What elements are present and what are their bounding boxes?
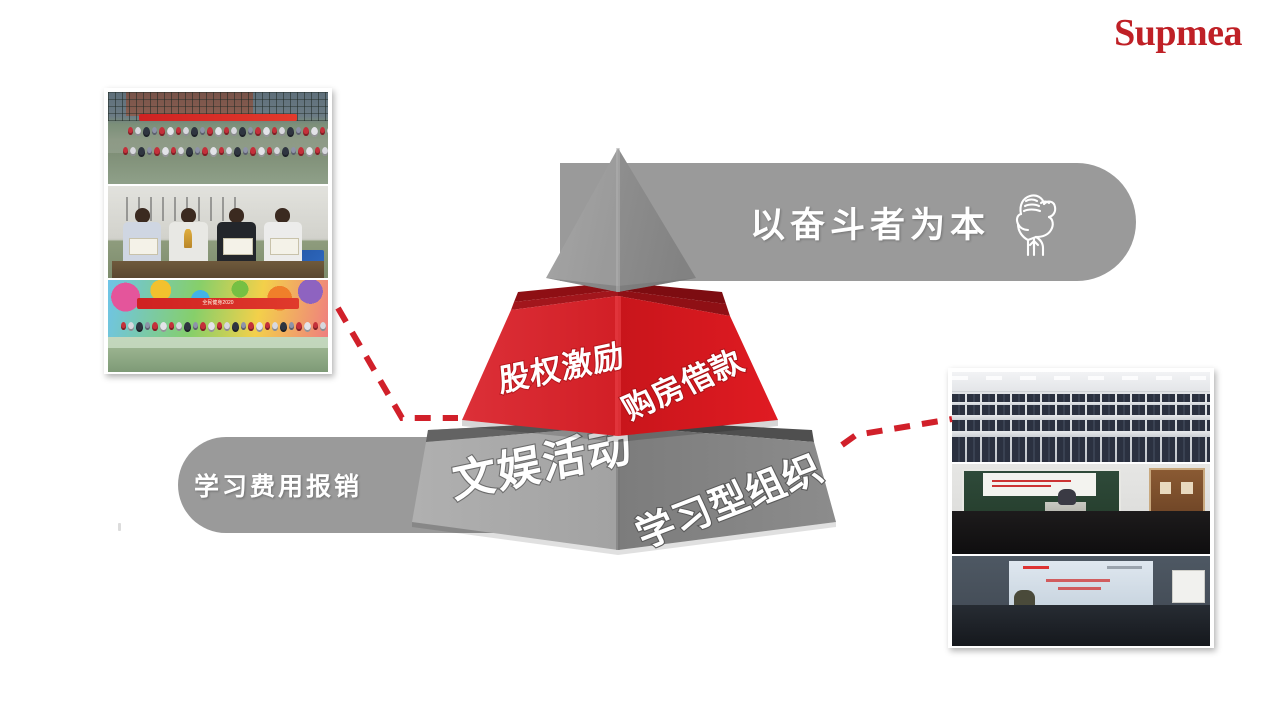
- decor-crowd-row: [121, 322, 326, 332]
- list-item: [108, 92, 328, 184]
- list-item: [952, 464, 1210, 554]
- decor-banner: [139, 114, 297, 121]
- decor-crowd-row: [952, 405, 1210, 415]
- list-item: [108, 186, 328, 278]
- decor-person: [1058, 489, 1076, 505]
- decor-screen: [983, 473, 1097, 496]
- apex-face-left: [546, 148, 618, 292]
- decor-crowd-row: [952, 394, 1210, 402]
- pyramid-apex-tier[interactable]: [546, 148, 696, 292]
- decor-crowd-row: [952, 420, 1210, 432]
- collage-left: 全民健身2020: [104, 88, 332, 374]
- list-item: [952, 556, 1210, 646]
- decor-table: [112, 261, 323, 278]
- callout-pill-left-label: 学习费用报销: [194, 467, 362, 503]
- decor-artifact: [118, 523, 121, 531]
- decor-banner: 全民健身2020: [137, 298, 300, 309]
- decor-crowd-row: [952, 605, 1210, 646]
- decor-crowd-row: [123, 147, 328, 157]
- collage-right: [948, 368, 1214, 648]
- decor-whiteboard: [1172, 570, 1205, 603]
- decor-crowd-row: [128, 127, 328, 137]
- decor-person: [262, 208, 304, 265]
- decor-crowd-row: [952, 437, 1210, 462]
- list-item: [952, 372, 1210, 462]
- decor-person: [167, 208, 209, 265]
- decor-ground: [108, 153, 328, 184]
- decor-lights: [952, 376, 1210, 381]
- decor-person: [121, 208, 163, 265]
- decor-crowd-row: [952, 511, 1210, 554]
- decor-floor: [108, 348, 328, 372]
- apex-face-right: [618, 148, 696, 292]
- apex-center-ridge: [616, 148, 620, 292]
- pyramid-diagram: 文娱活动 学习型组织 股权激励 购房借款: [366, 130, 906, 600]
- pyramid-red-tier[interactable]: 股权激励 购房借款: [462, 282, 778, 442]
- raised-fist-icon: [1010, 187, 1062, 257]
- brand-logo: Supmea: [1114, 14, 1242, 52]
- list-item: 全民健身2020: [108, 280, 328, 372]
- decor-person: [216, 208, 258, 265]
